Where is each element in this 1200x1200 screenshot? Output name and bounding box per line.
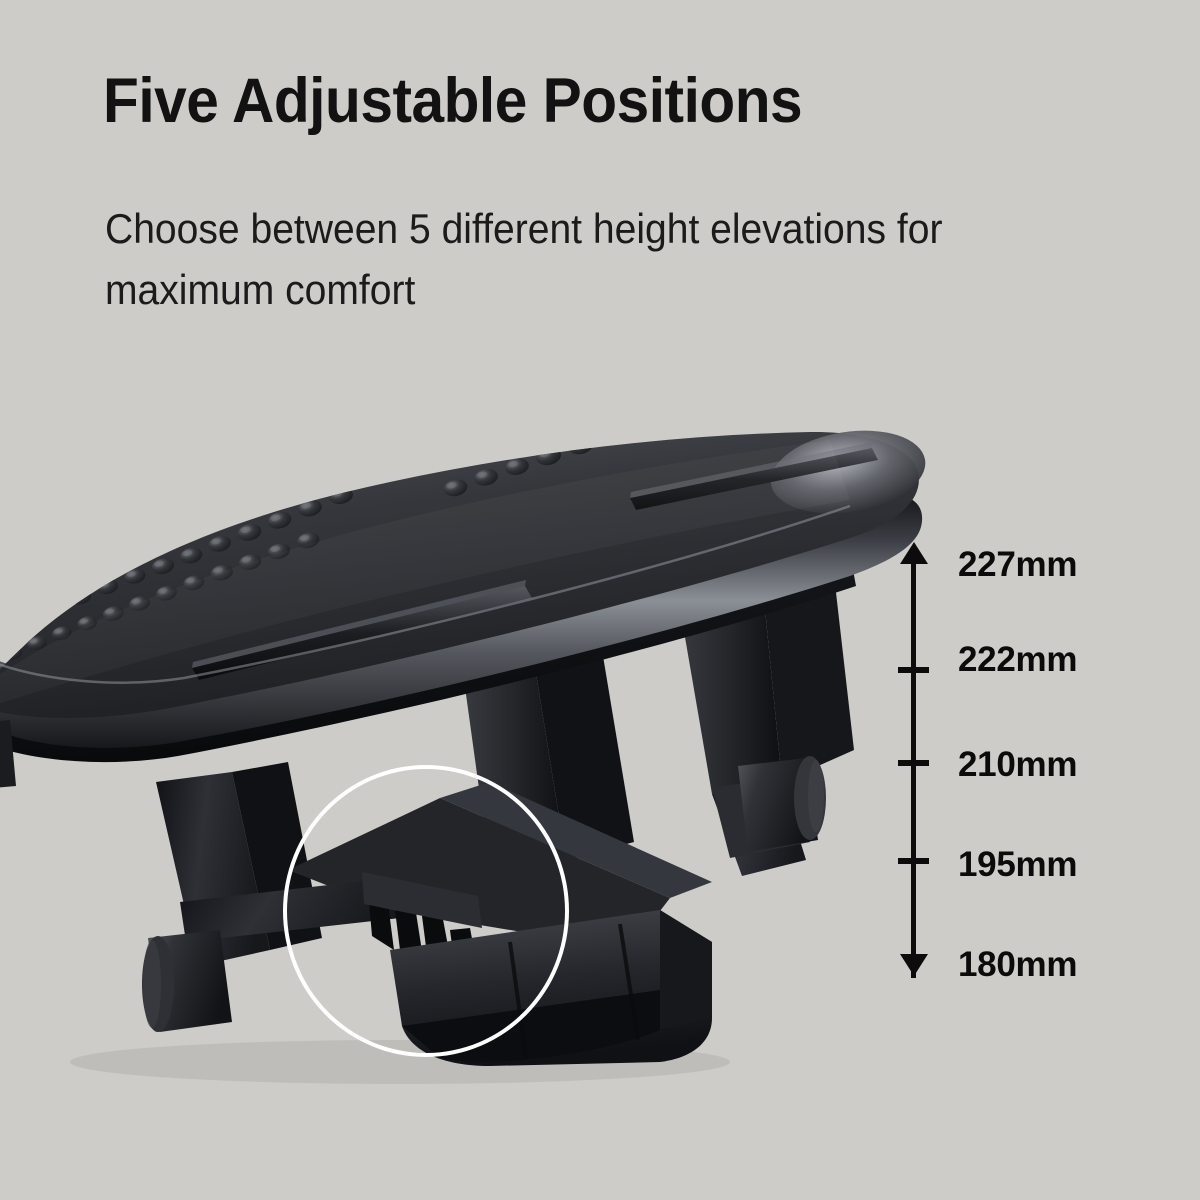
infographic-canvas: Five Adjustable Positions Choose between…	[0, 0, 1200, 1200]
scale-label-195: 195mm	[958, 845, 1077, 885]
arrow-up-icon	[900, 542, 928, 564]
scale-label-180: 180mm	[958, 945, 1077, 985]
page-title: Five Adjustable Positions	[103, 68, 802, 134]
scale-label-210: 210mm	[958, 745, 1077, 785]
scale-label-227: 227mm	[958, 545, 1077, 585]
scale-label-222: 222mm	[958, 640, 1077, 680]
footrest-illustration	[0, 390, 960, 1090]
page-subtitle: Choose between 5 different height elevat…	[105, 199, 1044, 321]
scale-tick-222	[898, 667, 929, 673]
height-measurement-scale: 227mm 222mm 210mm 195mm 180mm	[880, 520, 1140, 1000]
rubber-foot-right	[738, 756, 826, 852]
scale-tick-195	[898, 858, 929, 864]
scale-tick-210	[898, 760, 929, 766]
rubber-foot-left	[142, 930, 232, 1032]
product-image	[0, 390, 960, 1090]
arrow-down-icon	[900, 954, 928, 976]
